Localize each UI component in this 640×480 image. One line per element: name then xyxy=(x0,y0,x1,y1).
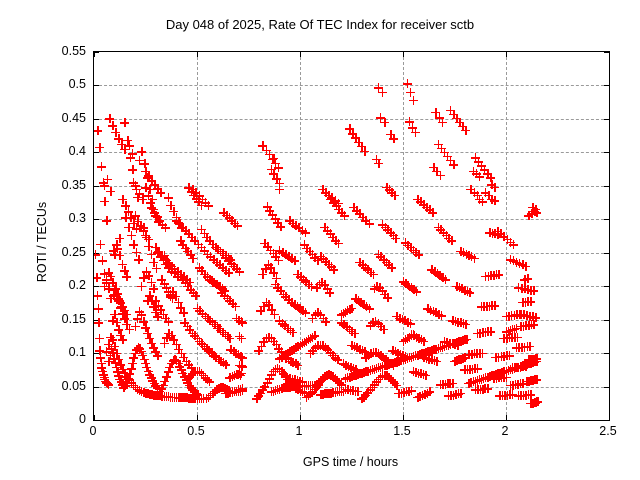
data-point-marker xyxy=(272,274,281,283)
data-point-marker xyxy=(268,210,277,219)
data-point-marker xyxy=(382,371,391,380)
data-point-marker xyxy=(444,341,453,350)
data-point-marker xyxy=(122,320,131,329)
data-point-marker xyxy=(283,375,292,384)
data-point-marker xyxy=(164,287,173,296)
data-point-marker xyxy=(359,300,368,309)
data-point-marker xyxy=(111,358,120,367)
data-point-marker xyxy=(413,351,422,360)
data-point-marker xyxy=(339,359,348,368)
data-point-marker xyxy=(215,324,224,333)
data-point-marker xyxy=(531,354,540,363)
data-point-marker xyxy=(146,198,155,207)
data-point-marker xyxy=(435,271,444,280)
data-point-marker xyxy=(184,183,193,192)
data-point-marker xyxy=(321,188,330,197)
data-point-marker xyxy=(172,393,181,402)
grid-line-horizontal xyxy=(94,85,609,86)
data-point-marker xyxy=(319,254,328,263)
data-point-marker xyxy=(422,203,431,212)
data-point-marker xyxy=(379,325,388,334)
data-point-marker xyxy=(191,188,200,197)
data-point-marker xyxy=(365,304,374,313)
data-point-marker xyxy=(484,272,493,281)
data-point-marker xyxy=(361,263,370,272)
data-point-marker xyxy=(470,188,479,197)
data-point-marker xyxy=(133,193,142,202)
data-point-marker xyxy=(279,369,288,378)
data-point-marker xyxy=(212,258,221,267)
data-point-marker xyxy=(304,280,313,289)
data-point-marker xyxy=(155,391,164,400)
data-point-marker xyxy=(122,372,131,381)
data-point-marker xyxy=(519,322,528,331)
data-point-marker xyxy=(528,358,537,367)
data-point-marker xyxy=(182,357,191,366)
data-point-marker xyxy=(358,213,367,222)
data-point-marker xyxy=(331,353,340,362)
data-point-marker xyxy=(489,271,498,280)
data-point-marker xyxy=(382,361,391,370)
grid-line-horizontal xyxy=(94,286,609,287)
data-point-marker xyxy=(98,256,107,265)
data-point-marker xyxy=(449,110,458,119)
data-point-marker xyxy=(262,298,271,307)
data-point-marker xyxy=(124,374,133,383)
data-point-marker xyxy=(218,263,227,272)
data-point-marker xyxy=(351,387,360,396)
data-point-marker xyxy=(512,343,521,352)
data-point-marker xyxy=(328,372,337,381)
data-point-marker xyxy=(256,389,265,398)
data-point-marker xyxy=(503,235,512,244)
data-point-marker xyxy=(311,310,320,319)
data-point-marker xyxy=(331,236,340,245)
data-point-marker xyxy=(423,389,432,398)
data-point-marker xyxy=(306,381,315,390)
data-point-marker xyxy=(434,310,443,319)
grid-line-vertical xyxy=(506,52,507,420)
data-point-marker xyxy=(176,303,185,312)
y-tick-label: 0.4 xyxy=(69,144,86,158)
data-point-marker xyxy=(128,165,137,174)
data-point-marker xyxy=(170,268,179,277)
data-point-marker xyxy=(376,373,385,382)
y-axis-tick xyxy=(94,152,99,153)
y-tick-label: 0.15 xyxy=(62,312,86,326)
data-point-marker xyxy=(102,347,111,356)
data-point-marker xyxy=(347,341,356,350)
data-point-marker xyxy=(419,353,428,362)
data-point-marker xyxy=(178,240,187,249)
data-point-marker xyxy=(200,229,209,238)
data-point-marker xyxy=(118,195,127,204)
data-point-marker xyxy=(266,263,275,272)
data-point-marker xyxy=(258,270,267,279)
data-point-marker xyxy=(378,371,387,380)
data-point-marker xyxy=(147,339,156,348)
data-point-marker xyxy=(324,370,333,379)
data-point-marker xyxy=(384,373,393,382)
data-point-marker xyxy=(184,229,193,238)
data-point-marker xyxy=(159,381,168,390)
data-point-marker xyxy=(228,372,237,381)
data-point-marker xyxy=(454,355,463,364)
data-point-marker xyxy=(183,322,192,331)
data-point-marker xyxy=(486,271,495,280)
data-point-marker xyxy=(426,306,435,315)
data-point-marker xyxy=(117,377,126,386)
data-point-marker xyxy=(475,329,484,338)
data-point-marker xyxy=(327,193,336,202)
data-point-marker xyxy=(478,328,487,337)
data-point-marker xyxy=(174,359,183,368)
data-point-marker xyxy=(361,391,370,400)
data-point-marker xyxy=(482,302,491,311)
data-point-marker xyxy=(446,340,455,349)
data-point-marker xyxy=(156,188,165,197)
data-point-marker xyxy=(165,260,174,269)
data-point-marker xyxy=(100,269,109,278)
data-point-marker xyxy=(526,390,535,399)
data-point-marker xyxy=(438,343,447,352)
data-point-marker xyxy=(369,270,378,279)
data-point-marker xyxy=(235,361,244,370)
data-point-marker xyxy=(359,368,368,377)
data-point-marker xyxy=(302,337,311,346)
data-point-marker xyxy=(230,371,239,380)
data-point-marker xyxy=(182,275,191,284)
data-point-marker xyxy=(326,389,335,398)
data-point-marker xyxy=(265,150,274,159)
data-point-marker xyxy=(262,146,271,155)
data-point-marker xyxy=(381,355,390,364)
data-point-marker xyxy=(514,391,523,400)
data-point-marker xyxy=(345,305,354,314)
data-point-marker xyxy=(114,371,123,380)
data-point-marker xyxy=(235,332,244,341)
y-axis-tick-right xyxy=(604,253,609,254)
data-point-marker xyxy=(384,357,393,366)
data-point-marker xyxy=(492,270,501,279)
data-point-marker xyxy=(489,371,498,380)
data-point-marker xyxy=(515,310,524,319)
data-point-marker xyxy=(415,350,424,359)
y-axis-tick-right xyxy=(604,286,609,287)
data-point-marker xyxy=(184,360,193,369)
data-point-marker xyxy=(94,126,102,135)
data-point-marker xyxy=(141,323,150,332)
data-point-marker xyxy=(313,341,322,350)
data-point-marker xyxy=(168,264,177,273)
data-point-marker xyxy=(147,176,156,185)
data-point-marker xyxy=(287,380,296,389)
data-point-marker xyxy=(499,367,508,376)
data-point-marker xyxy=(375,283,384,292)
y-axis-tick-right xyxy=(604,152,609,153)
data-point-marker xyxy=(201,198,210,207)
data-point-marker xyxy=(423,304,432,313)
data-point-marker xyxy=(331,196,340,205)
x-axis-tick-top xyxy=(506,52,507,57)
data-point-marker xyxy=(206,316,215,325)
data-point-marker xyxy=(503,391,512,400)
data-point-marker xyxy=(490,183,499,192)
data-point-marker xyxy=(165,363,174,372)
data-point-marker xyxy=(267,334,276,343)
data-point-marker xyxy=(264,300,273,309)
grid-line-horizontal xyxy=(94,186,609,187)
data-point-marker xyxy=(178,223,187,232)
data-point-marker xyxy=(376,113,385,122)
data-point-marker xyxy=(178,369,187,378)
grid-line-vertical xyxy=(197,52,198,420)
data-point-marker xyxy=(184,373,193,382)
data-point-marker xyxy=(281,292,290,301)
data-point-marker xyxy=(442,338,451,347)
data-point-marker xyxy=(153,383,162,392)
data-point-marker xyxy=(530,375,539,384)
data-point-marker xyxy=(521,321,530,330)
data-point-marker xyxy=(354,138,363,147)
data-point-marker xyxy=(472,169,481,178)
data-point-marker xyxy=(125,369,134,378)
data-point-marker xyxy=(374,375,383,384)
data-point-marker xyxy=(133,217,142,226)
data-point-marker xyxy=(113,367,122,376)
data-point-marker xyxy=(118,335,127,344)
data-point-marker xyxy=(187,383,196,392)
data-point-marker xyxy=(232,314,241,323)
data-point-marker xyxy=(135,156,144,165)
data-point-marker xyxy=(321,343,330,352)
data-point-marker xyxy=(162,372,171,381)
data-point-marker xyxy=(195,191,204,200)
data-point-marker xyxy=(166,290,175,299)
data-point-marker xyxy=(154,247,163,256)
data-point-marker xyxy=(429,163,438,172)
data-point-marker xyxy=(407,330,416,339)
data-point-marker xyxy=(284,355,293,364)
data-point-marker xyxy=(465,288,474,297)
data-point-marker xyxy=(494,270,503,279)
data-point-marker xyxy=(507,333,516,342)
data-point-marker xyxy=(512,324,521,333)
data-point-marker xyxy=(237,361,246,370)
data-point-marker xyxy=(471,153,480,162)
data-point-marker xyxy=(419,337,428,346)
data-point-marker xyxy=(161,314,170,323)
data-point-marker xyxy=(232,387,241,396)
data-point-marker xyxy=(267,165,276,174)
data-point-marker xyxy=(378,362,387,371)
data-point-marker xyxy=(455,283,464,292)
data-point-marker xyxy=(524,359,533,368)
data-point-marker xyxy=(197,266,206,275)
data-point-marker xyxy=(236,371,245,380)
data-point-marker xyxy=(343,373,352,382)
data-point-marker xyxy=(112,363,121,372)
data-point-marker xyxy=(512,363,521,372)
data-point-marker xyxy=(281,354,290,363)
data-point-marker xyxy=(126,153,135,162)
data-point-marker xyxy=(522,360,531,369)
data-point-marker xyxy=(125,141,134,150)
data-point-marker xyxy=(149,258,158,267)
data-point-marker xyxy=(142,233,151,242)
data-point-marker xyxy=(279,290,288,299)
data-point-marker xyxy=(288,358,297,367)
x-axis-tick-top xyxy=(300,52,301,57)
data-point-marker xyxy=(221,253,230,262)
data-point-marker xyxy=(450,339,459,348)
data-point-marker xyxy=(228,299,237,308)
data-point-marker xyxy=(142,363,151,372)
data-point-marker xyxy=(164,258,173,267)
y-axis-tick xyxy=(94,387,99,388)
data-point-marker xyxy=(329,198,338,207)
data-point-marker xyxy=(141,389,150,398)
data-point-marker xyxy=(134,255,143,264)
data-point-marker xyxy=(496,229,505,238)
data-point-marker xyxy=(408,123,417,132)
data-point-marker xyxy=(275,365,284,374)
data-point-marker xyxy=(302,244,311,253)
data-point-marker xyxy=(456,247,465,256)
y-tick-label: 0.45 xyxy=(62,111,86,125)
data-point-marker xyxy=(334,205,343,214)
data-point-marker xyxy=(440,342,449,351)
data-point-marker xyxy=(221,266,230,275)
data-point-marker xyxy=(485,372,494,381)
data-point-marker xyxy=(444,234,453,243)
data-point-marker xyxy=(396,356,405,365)
data-point-marker xyxy=(520,343,529,352)
data-point-marker xyxy=(159,256,168,265)
data-point-marker xyxy=(164,367,173,376)
data-point-marker xyxy=(233,221,242,230)
data-point-marker xyxy=(117,140,126,149)
data-point-marker xyxy=(355,258,364,267)
data-point-marker xyxy=(406,243,415,252)
data-point-marker xyxy=(518,260,527,269)
data-point-marker xyxy=(481,373,490,382)
data-point-marker xyxy=(520,361,529,370)
data-point-marker xyxy=(168,393,177,402)
data-point-marker xyxy=(234,370,243,379)
data-point-marker xyxy=(170,264,179,273)
data-point-marker xyxy=(339,320,348,329)
data-point-marker xyxy=(149,391,158,400)
y-tick-label: 0.1 xyxy=(69,345,86,359)
data-point-marker xyxy=(516,310,525,319)
data-point-marker xyxy=(209,255,218,264)
data-point-marker xyxy=(160,339,169,348)
data-point-marker xyxy=(288,375,297,384)
data-point-marker xyxy=(481,188,490,197)
data-point-marker xyxy=(319,314,328,323)
data-point-marker xyxy=(168,294,177,303)
data-point-marker xyxy=(440,337,449,346)
data-point-marker xyxy=(140,355,149,364)
data-point-marker xyxy=(477,302,486,311)
data-point-marker xyxy=(532,357,541,366)
data-point-marker xyxy=(191,291,200,300)
data-point-marker xyxy=(487,371,496,380)
data-point-marker xyxy=(415,392,424,401)
x-axis-tick xyxy=(300,415,301,420)
data-point-marker xyxy=(145,390,154,399)
data-point-marker xyxy=(353,387,362,396)
data-point-marker xyxy=(125,325,134,334)
data-point-marker xyxy=(454,389,463,398)
y-axis-tick xyxy=(94,320,99,321)
data-point-marker xyxy=(497,373,506,382)
data-point-marker xyxy=(412,287,421,296)
data-point-marker xyxy=(202,233,211,242)
data-point-marker xyxy=(378,88,387,97)
data-point-marker xyxy=(123,136,132,145)
data-point-marker xyxy=(435,113,444,122)
data-point-marker xyxy=(368,365,377,374)
y-axis-tick-right xyxy=(604,387,609,388)
data-point-marker xyxy=(401,238,410,247)
data-point-marker xyxy=(151,308,160,317)
data-point-marker xyxy=(462,250,471,259)
data-point-marker xyxy=(275,246,284,255)
data-point-marker xyxy=(166,292,175,301)
data-point-marker xyxy=(310,253,319,262)
data-point-marker xyxy=(100,373,109,382)
data-point-marker xyxy=(425,347,434,356)
data-point-marker xyxy=(137,310,146,319)
data-point-marker xyxy=(528,376,537,385)
x-axis-tick-top xyxy=(94,52,95,57)
grid-line-horizontal xyxy=(94,219,609,220)
y-tick-label: 0.35 xyxy=(62,178,86,192)
data-point-marker xyxy=(469,377,478,386)
data-point-marker xyxy=(293,342,302,351)
data-point-marker xyxy=(144,171,153,180)
data-point-marker xyxy=(128,149,137,158)
data-point-marker xyxy=(512,258,521,267)
data-point-marker xyxy=(322,371,331,380)
data-point-marker xyxy=(175,362,184,371)
data-point-marker xyxy=(397,389,406,398)
data-point-marker xyxy=(150,208,159,217)
data-point-marker xyxy=(495,391,504,400)
data-point-marker xyxy=(204,393,213,402)
data-point-marker xyxy=(513,333,522,342)
data-point-marker xyxy=(464,350,473,359)
data-point-marker xyxy=(448,316,457,325)
data-point-marker xyxy=(182,393,191,402)
data-point-marker xyxy=(517,284,526,293)
y-tick-label: 0 xyxy=(79,412,86,426)
data-point-marker xyxy=(515,259,524,268)
roti-scatter-plot-screen: Day 048 of 2025, Rate Of TEC Index for r… xyxy=(0,0,640,480)
data-point-marker xyxy=(430,267,439,276)
data-point-marker xyxy=(442,231,451,240)
data-point-marker xyxy=(104,268,113,277)
data-point-marker xyxy=(352,206,361,215)
data-point-marker xyxy=(151,296,160,305)
data-point-marker xyxy=(267,305,276,314)
data-point-marker xyxy=(267,370,276,379)
data-point-marker xyxy=(511,380,520,389)
data-point-marker xyxy=(232,387,241,396)
data-point-marker xyxy=(113,289,122,298)
